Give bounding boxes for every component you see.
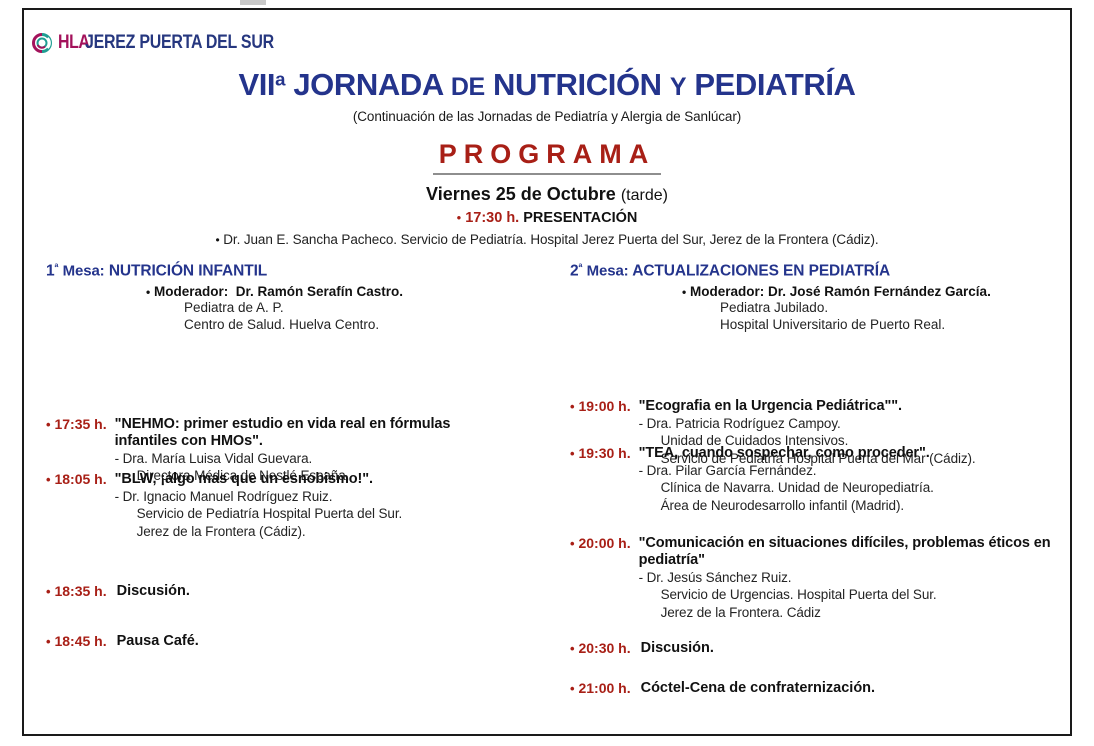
mesa-number-suffix: ª [55,262,59,274]
programa-heading-wrap: PROGRAMA [24,139,1070,175]
program-item-detail-line: Servicio de Pediatría Hospital Puerta de… [115,505,516,522]
title-ordinal: VII [238,67,275,102]
program-item-detail-line: Servicio de Urgencias. Hospital Puerta d… [639,586,1060,603]
program-item-time-cell: • 18:05 h. [46,471,107,487]
presentation-speaker: Dr. Juan E. Sancha Pacheco. Servicio de … [223,232,878,247]
program-item-time: 18:45 h. [54,633,106,649]
mesa-word: Mesa: [63,263,105,280]
program-item-speakers: - Dr. Jesús Sánchez Ruiz.Servicio de Urg… [639,569,1060,621]
program-item-bullet-icon: • [46,472,51,487]
window-chrome-fragment [240,0,266,5]
moderator-block: • Moderador: Dr. José Ramón Fernández Ga… [570,284,1060,334]
moderator-label: Moderador: [154,284,228,299]
program-item-body: Pausa Café. [107,633,516,649]
program-item-time-cell: • 20:00 h. [570,535,631,551]
presentation-line: • 17:30 h. PRESENTACIÓN [24,210,1070,226]
programa-heading: PROGRAMA [433,139,662,175]
program-item-detail-line: Jerez de la Frontera (Cádiz). [115,523,516,540]
moderator-label: Moderador: [690,284,764,299]
presentation-label: PRESENTACIÓN [523,210,637,226]
title-connector-de: DE [451,73,485,101]
program-item-time: 21:00 h. [578,680,630,696]
program-item-title: Cóctel-Cena de confraternización. [641,680,875,696]
program-item-speakers: - Dr. Ignacio Manuel Rodríguez Ruiz.Serv… [115,488,516,540]
presentation-speaker-bullet-icon: • [216,233,220,247]
screenshot-viewport: HLA JEREZ PUERTA DEL SUR VIIa JORNADA DE… [0,0,1094,746]
program-item: • 18:05 h."BLW, ¡algo mas que un esnobis… [46,471,516,540]
event-date-line: Viernes 25 de Octubre (tarde) [24,184,1070,205]
program-item-bullet-icon: • [570,641,575,656]
program-item-time: 18:05 h. [54,471,106,487]
program-item-bullet-icon: • [46,634,51,649]
brand-name-secondary: JEREZ PUERTA DEL SUR [85,32,274,54]
program-item-body: Discusión. [107,583,516,599]
page-title: VIIa JORNADA DE NUTRICIÓN Y PEDIATRÍA [24,67,1070,103]
program-item: • 18:35 h.Discusión. [46,583,516,599]
program-item-detail-line: Clínica de Navarra. Unidad de Neuropedia… [639,479,1060,496]
presentation-bullet-icon: • [457,210,462,225]
moderator-details: Pediatra Jubilado.Hospital Universitario… [682,299,1060,334]
program-item-detail-line: Jerez de la Frontera. Cádiz [639,604,1060,621]
event-date: Viernes 25 de Octubre [426,184,616,204]
program-item-time: 20:00 h. [578,535,630,551]
program-item-speakers: - Dra. Pilar García Fernández.Clínica de… [639,462,1060,514]
moderator-detail-line: Centro de Salud. Huelva Centro. [184,316,536,333]
program-item: • 20:30 h.Discusión. [570,640,1060,656]
program-item-body: Cóctel-Cena de confraternización. [631,680,1060,696]
moderator-detail-line: Pediatra de A. P. [184,299,536,316]
program-item-title: "Comunicación en situaciones difíciles, … [639,535,1060,569]
program-item-body: Discusión. [631,640,1060,656]
program-item-title: Discusión. [117,583,190,599]
program-item-time: 20:30 h. [578,640,630,656]
program-item-time-cell: • 18:35 h. [46,583,107,599]
program-item-body: "Comunicación en situaciones difíciles, … [631,535,1060,621]
title-part1: JORNADA [293,67,442,102]
moderator-bullet-icon: • [682,285,686,299]
program-item: • 21:00 h. Cóctel-Cena de confraternizac… [570,680,1060,696]
program-item: • 18:45 h.Pausa Café. [46,633,516,649]
presentation-speaker-line: • Dr. Juan E. Sancha Pacheco. Servicio d… [24,232,1070,247]
program-item-detail-line: - Dr. Jesús Sánchez Ruiz. [639,569,1060,586]
hla-circle-logo-icon [32,33,52,53]
program-item-bullet-icon: • [46,417,51,432]
program-item: • 19:30 h."TEA, cuando sospechar, como p… [570,445,1060,514]
moderator-detail-line: Pediatra Jubilado. [720,299,1060,316]
program-item-bullet-icon: • [570,536,575,551]
mesa-word: Mesa: [587,263,629,280]
title-part2: NUTRICIÓN [493,67,662,102]
moderator-name: Dr. José Ramón Fernández García. [768,284,991,299]
page-subtitle: (Continuación de las Jornadas de Pediatr… [24,109,1070,124]
title-part3: PEDIATRÍA [694,67,855,102]
program-item-time-cell: • 18:45 h. [46,633,107,649]
program-item-time: 18:35 h. [54,583,106,599]
program-item-title: "BLW, ¡algo mas que un esnobismo!". [115,471,516,488]
program-item-time-cell: • 17:35 h. [46,416,107,432]
program-item-bullet-icon: • [570,446,575,461]
moderator-name: Dr. Ramón Serafín Castro. [236,284,403,299]
program-item-time-cell: • 20:30 h. [570,640,631,656]
program-columns: 1ª Mesa: NUTRICIÓN INFANTIL• Moderador: … [24,262,1070,732]
title-connector-y: Y [670,73,686,101]
program-item-bullet-icon: • [46,584,51,599]
mesa-number-suffix: ª [579,262,583,274]
program-item-time-cell: • 21:00 h. [570,680,631,696]
event-date-period: (tarde) [621,187,668,204]
program-item-body: "TEA, cuando sospechar, como proceder".-… [631,445,1060,514]
program-item-detail-line: Área de Neurodesarrollo infantil (Madrid… [639,497,1060,514]
moderator-bullet-icon: • [146,285,150,299]
program-item-time-cell: • 19:00 h. [570,398,631,414]
program-item-detail-line: - Dra. Pilar García Fernández. [639,462,1060,479]
program-item-time: 17:35 h. [54,416,106,432]
moderator-detail-line: Hospital Universitario de Puerto Real. [720,316,1060,333]
program-item: • 20:00 h."Comunicación en situaciones d… [570,535,1060,621]
program-item-body: "BLW, ¡algo mas que un esnobismo!".- Dr.… [107,471,516,540]
program-item-time: 19:30 h. [578,445,630,461]
title-ordinal-suffix: a [275,69,285,90]
program-column-left: 1ª Mesa: NUTRICIÓN INFANTIL• Moderador: … [46,262,536,333]
program-item-title: Pausa Café. [117,633,199,649]
moderator-block: • Moderador: Dr. Ramón Serafín Castro.Pe… [46,284,536,334]
program-item-bullet-icon: • [570,399,575,414]
program-item-time-cell: • 19:30 h. [570,445,631,461]
program-item-detail-line: - Dra. María Luisa Vidal Guevara. [115,450,516,467]
moderator-details: Pediatra de A. P.Centro de Salud. Huelva… [146,299,536,334]
mesa-heading-2: 2ª Mesa: ACTUALIZACIONES EN PEDIATRÍA [570,262,1060,281]
mesa-number: 1 [46,263,55,280]
program-item-detail-line: - Dr. Ignacio Manuel Rodríguez Ruiz. [115,488,516,505]
mesa-title: NUTRICIÓN INFANTIL [109,263,267,280]
program-item-title: "TEA, cuando sospechar, como proceder". [639,445,1060,462]
mesa-heading-1: 1ª Mesa: NUTRICIÓN INFANTIL [46,262,536,281]
presentation-time: 17:30 h. [465,210,519,226]
program-item-title: "Ecografia en la Urgencia Pediátrica"". [639,398,1060,415]
program-item-detail-line: - Dra. Patricia Rodríguez Campoy. [639,415,1060,432]
brand-logo: HLA JEREZ PUERTA DEL SUR [32,32,309,54]
program-item-time: 19:00 h. [578,398,630,414]
program-column-right: 2ª Mesa: ACTUALIZACIONES EN PEDIATRÍA• M… [570,262,1060,333]
program-item-bullet-icon: • [570,681,575,696]
mesa-title: ACTUALIZACIONES EN PEDIATRÍA [632,263,890,280]
program-poster-sheet: HLA JEREZ PUERTA DEL SUR VIIa JORNADA DE… [22,8,1072,736]
program-item-title: Discusión. [641,640,714,656]
mesa-number: 2 [570,263,579,280]
program-item-title: "NEHMO: primer estudio en vida real en f… [115,416,516,450]
